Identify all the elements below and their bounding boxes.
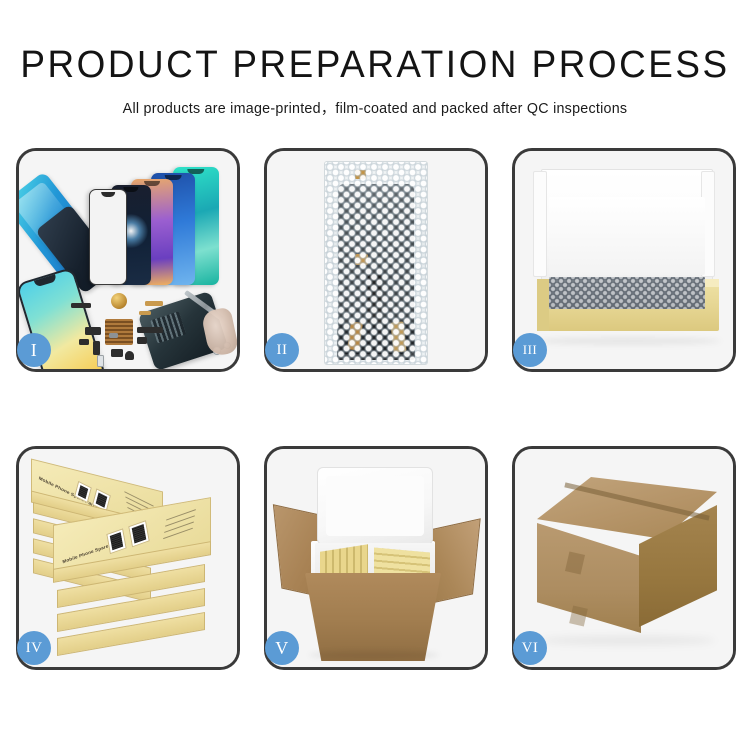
camera-module-icon [125, 351, 134, 360]
drop-shadow [539, 636, 715, 645]
spare-part-icon [79, 339, 89, 345]
step-3-illustration [515, 151, 733, 369]
flex-cable-icon [137, 327, 163, 333]
box-flap-left-icon [533, 171, 547, 277]
spare-part-icon [109, 333, 118, 338]
grey-bubble-wrap-icon [549, 277, 705, 309]
spare-part-icon [139, 311, 151, 315]
process-step-grid: I II [16, 148, 736, 670]
bubble-wrap-bag-icon [324, 161, 428, 365]
page-title: PRODUCT PREPARATION PROCESS [11, 0, 739, 84]
step-panel-2: II [264, 148, 488, 372]
chip-grid-icon [105, 319, 133, 345]
box-window-icon [106, 528, 126, 554]
step-panel-5: V [264, 446, 488, 670]
drop-shadow [309, 651, 439, 659]
carton-body-icon [305, 573, 441, 661]
step-2-illustration [267, 151, 485, 369]
carton-tape-patch-icon [569, 606, 588, 627]
step-panel-6: VI [512, 446, 736, 670]
spare-part-icon [111, 349, 123, 357]
step-1-illustration [19, 151, 237, 369]
speaker-module-icon [111, 293, 127, 309]
spare-part-icon [137, 337, 147, 344]
spare-part-icon [71, 303, 91, 308]
sim-tray-icon [97, 355, 104, 367]
step-badge-2: II [265, 333, 299, 367]
step-5-illustration [267, 449, 485, 667]
notch-icon [101, 192, 115, 197]
step-panel-4: Mobile Phone Spare Parts Mobile Phone Sp… [16, 446, 240, 670]
spare-part-icon [85, 327, 101, 335]
spare-part-icon [145, 301, 163, 306]
foam-box-lid-icon [317, 467, 433, 545]
step-6-illustration [515, 449, 733, 667]
white-foam-sheet-icon [549, 197, 705, 275]
tray-lip-icon [537, 279, 549, 331]
step-badge-5: V [265, 631, 299, 665]
step-badge-1: I [17, 333, 51, 367]
step-4-illustration: Mobile Phone Spare Parts Mobile Phone Sp… [19, 449, 237, 667]
step-badge-3: III [513, 333, 547, 367]
drop-shadow [535, 337, 721, 345]
flex-cable-icon [93, 341, 100, 355]
step-badge-6: VI [513, 631, 547, 665]
page-subtitle: All products are image-printed，film-coat… [8, 84, 743, 118]
bubble-texture-icon [325, 162, 427, 364]
step-badge-4: IV [17, 631, 51, 665]
header: PRODUCT PREPARATION PROCESS All products… [0, 0, 750, 118]
step-panel-3: III [512, 148, 736, 372]
step-panel-1: I [16, 148, 240, 372]
tempered-glass-icon [89, 189, 127, 285]
box-window-icon [128, 520, 150, 547]
product-preparation-infographic: PRODUCT PREPARATION PROCESS All products… [0, 0, 750, 750]
phone-fan-group [81, 157, 237, 285]
carton-front-face-icon [537, 523, 641, 633]
